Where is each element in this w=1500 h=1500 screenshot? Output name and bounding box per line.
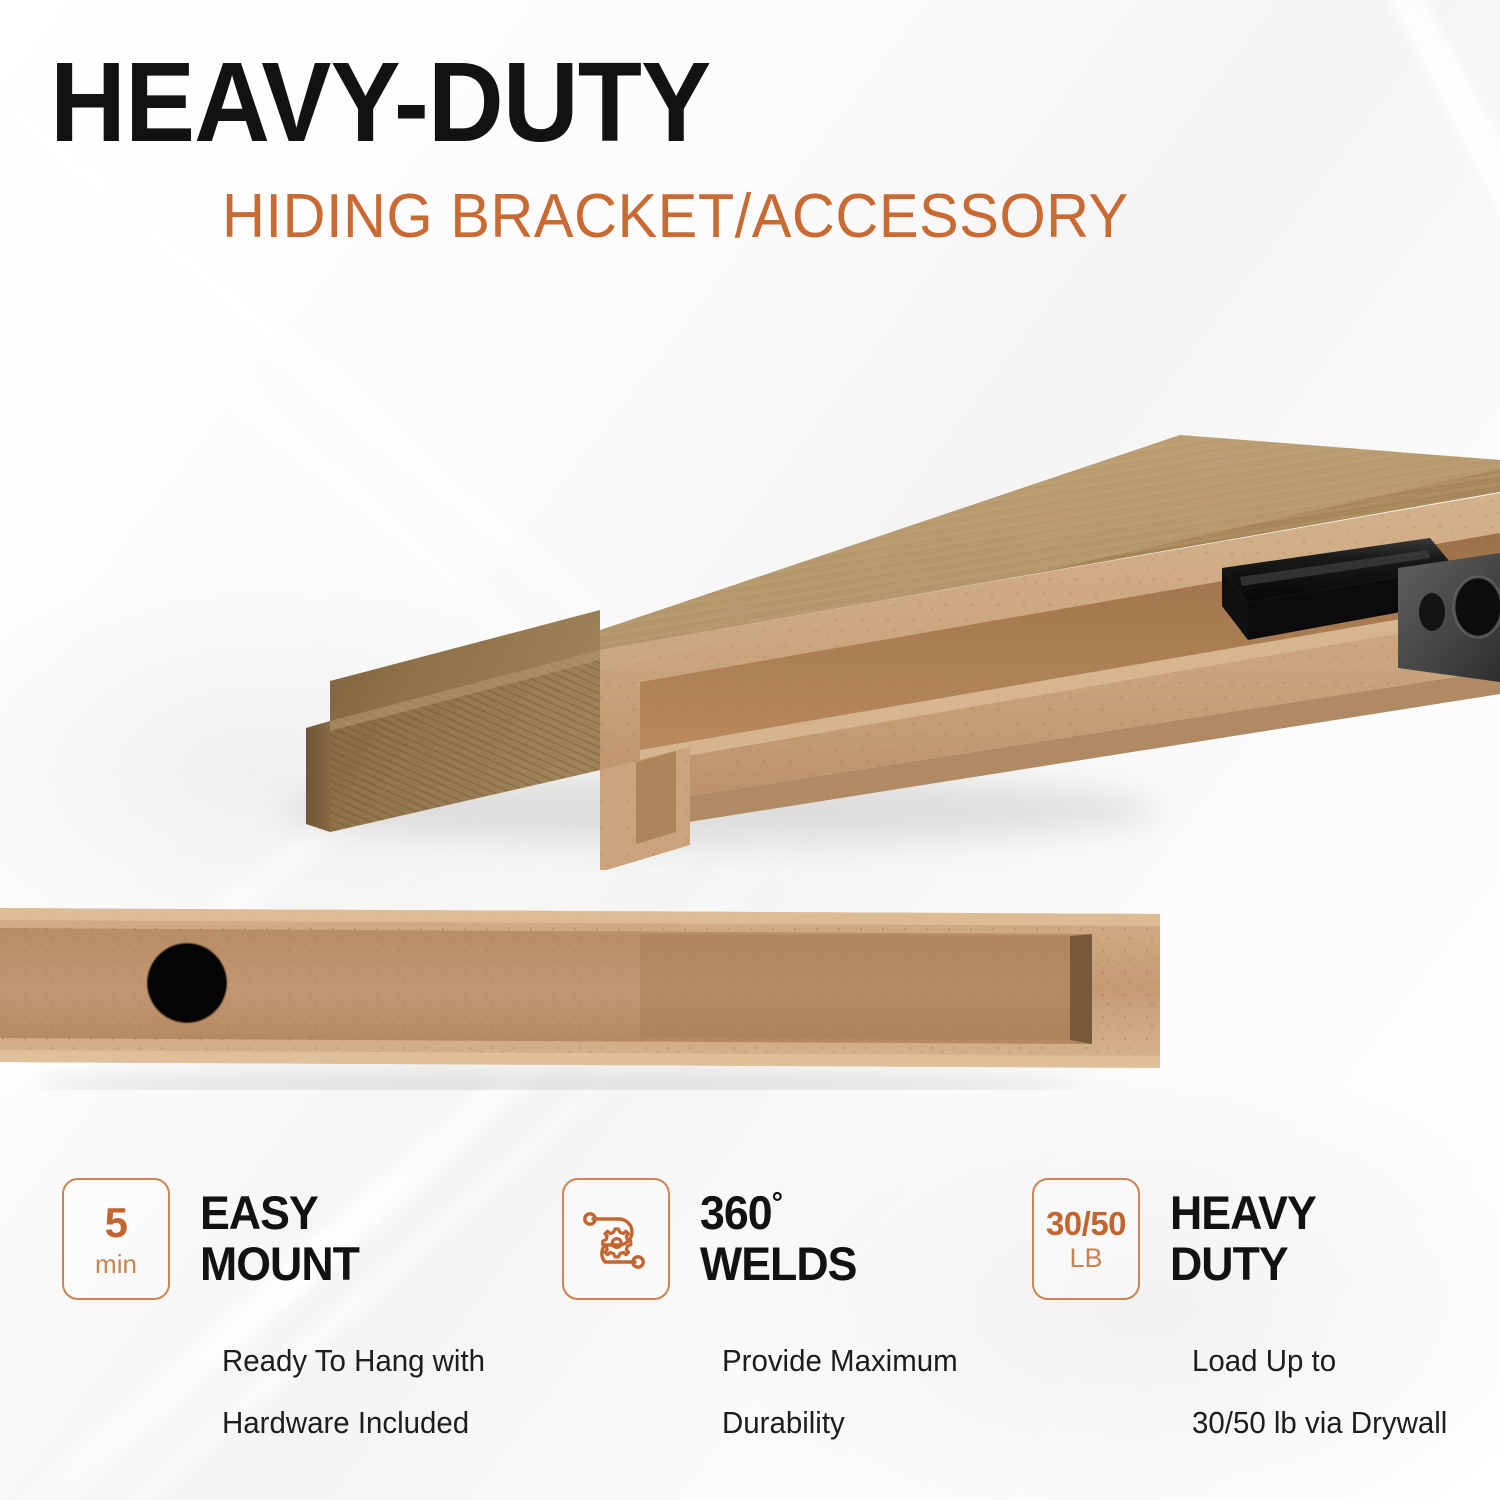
degree-symbol: ° — [772, 1187, 782, 1220]
description-line2: Durability — [722, 1392, 958, 1454]
wood-shelf-left-end-edge — [306, 721, 330, 832]
feature-description: Provide Maximum Durability — [722, 1330, 958, 1454]
page-title: HEAVY-DUTY — [50, 46, 710, 159]
bracket-wall-plate — [1398, 553, 1500, 682]
cutaway-drop-shadow — [40, 1069, 1080, 1090]
weld-path-gear-glyph — [579, 1202, 653, 1276]
product-feature-banner: HEAVY-DUTY HIDING BRACKET/ACCESSORY — [0, 0, 1500, 1500]
feature-description: Ready To Hang with Hardware Included — [222, 1330, 485, 1454]
page-subtitle: HIDING BRACKET/ACCESSORY — [222, 186, 1129, 248]
feature-row: 5 min EASY MOUNT — [0, 1178, 1500, 1308]
feature-title: 360° WELDS — [700, 1188, 856, 1290]
badge-main-value: 30/50 — [1046, 1207, 1126, 1240]
weld-path-gear-icon — [562, 1178, 670, 1300]
load-capacity-badge-icon: 30/50 LB — [1032, 1178, 1140, 1300]
description-line1: Provide Maximum — [722, 1330, 958, 1392]
description-line1: Load Up to — [1192, 1330, 1447, 1392]
five-minute-badge-icon: 5 min — [62, 1178, 170, 1300]
feature-title-line2: MOUNT — [200, 1239, 359, 1290]
shelf-illustration — [0, 250, 1500, 870]
bracket-screw-slot-icon — [1419, 593, 1445, 631]
feature-360-welds: 360° WELDS — [562, 1178, 865, 1300]
feature-title: EASY MOUNT — [200, 1188, 359, 1290]
badge-sub-value: LB — [1069, 1245, 1102, 1272]
description-line2: 30/50 lb via Drywall — [1192, 1392, 1447, 1454]
description-line2: Hardware Included — [222, 1392, 485, 1454]
feature-easy-mount: 5 min EASY MOUNT — [62, 1178, 367, 1300]
hero-product-image — [0, 250, 1500, 870]
feature-title-line1: HEAVY — [1170, 1188, 1316, 1239]
feature-title-line2: DUTY — [1170, 1239, 1316, 1290]
channel-end-wall — [1070, 934, 1092, 1044]
description-line1: Ready To Hang with — [222, 1330, 485, 1392]
feature-title-line1: 360° — [700, 1188, 856, 1239]
feature-title-line1: EASY — [200, 1188, 359, 1239]
feature-title-line2: WELDS — [700, 1239, 856, 1290]
shelf-cutaway-illustration — [0, 880, 1180, 1090]
badge-sub-value: min — [95, 1251, 137, 1277]
cutaway-product-image — [0, 880, 1180, 1090]
badge-main-value: 5 — [105, 1202, 128, 1244]
feature-description: Load Up to 30/50 lb via Drywall — [1192, 1330, 1447, 1454]
feature-heavy-duty: 30/50 LB HEAVY DUTY — [1032, 1178, 1323, 1300]
feature-title: HEAVY DUTY — [1170, 1188, 1316, 1290]
